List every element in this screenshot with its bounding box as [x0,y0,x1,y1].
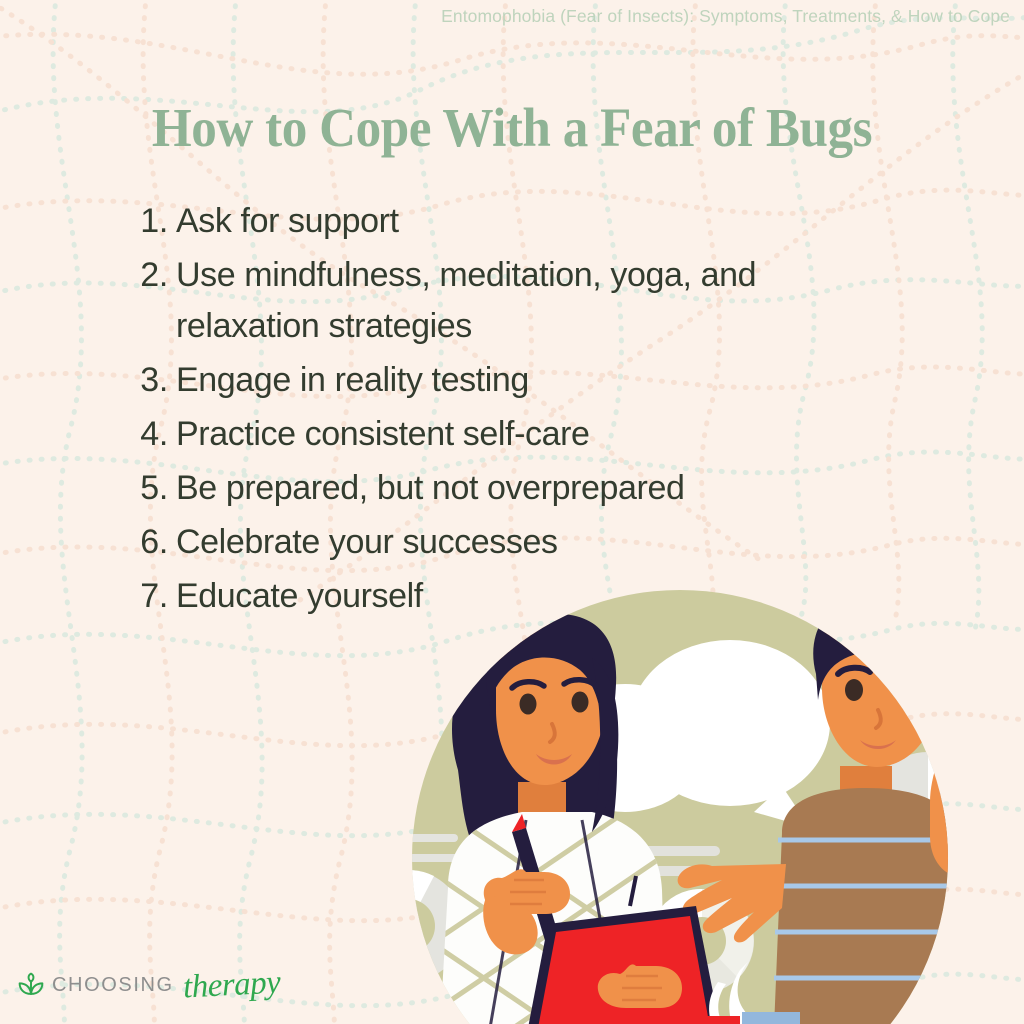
article-title-header: Entomophobia (Fear of Insects): Symptoms… [441,6,1010,27]
header-bar: Entomophobia (Fear of Insects): Symptoms… [0,0,1024,32]
lotus-leaf-icon [18,972,44,998]
list-item: 4. Practice consistent self-care [128,409,828,460]
list-item-text: Practice consistent self-care [168,409,828,460]
list-item-number: 5. [128,463,168,514]
therapy-session-illustration [330,588,1024,1024]
list-item-number: 6. [128,517,168,568]
list-item-number: 3. [128,355,168,406]
coping-strategies-list: 1. Ask for support 2. Use mindfulness, m… [128,196,828,625]
list-item-number: 7. [128,571,168,622]
logo-text-choosing: CHOOSING [52,974,174,997]
list-item: 2. Use mindfulness, meditation, yoga, an… [128,250,828,352]
list-item-number: 2. [128,250,168,301]
brand-logo[interactable]: CHOOSING therapy [18,968,280,1002]
list-item: 6. Celebrate your successes [128,517,828,568]
list-item-number: 4. [128,409,168,460]
logo-text-therapy: therapy [182,964,281,1006]
list-item: 3. Engage in reality testing [128,355,828,406]
list-item-text: Ask for support [168,196,828,247]
list-item-text: Use mindfulness, meditation, yoga, and r… [168,250,828,352]
list-item-number: 1. [128,196,168,247]
list-item-text: Be prepared, but not overprepared [168,463,828,514]
list-item: 5. Be prepared, but not overprepared [128,463,828,514]
list-item-text: Engage in reality testing [168,355,828,406]
list-item-text: Celebrate your successes [168,517,828,568]
raised-hand [930,737,1024,878]
list-item: 1. Ask for support [128,196,828,247]
page-title: How to Cope With a Fear of Bugs [36,96,988,159]
infographic-page: Entomophobia (Fear of Insects): Symptoms… [0,0,1024,1024]
